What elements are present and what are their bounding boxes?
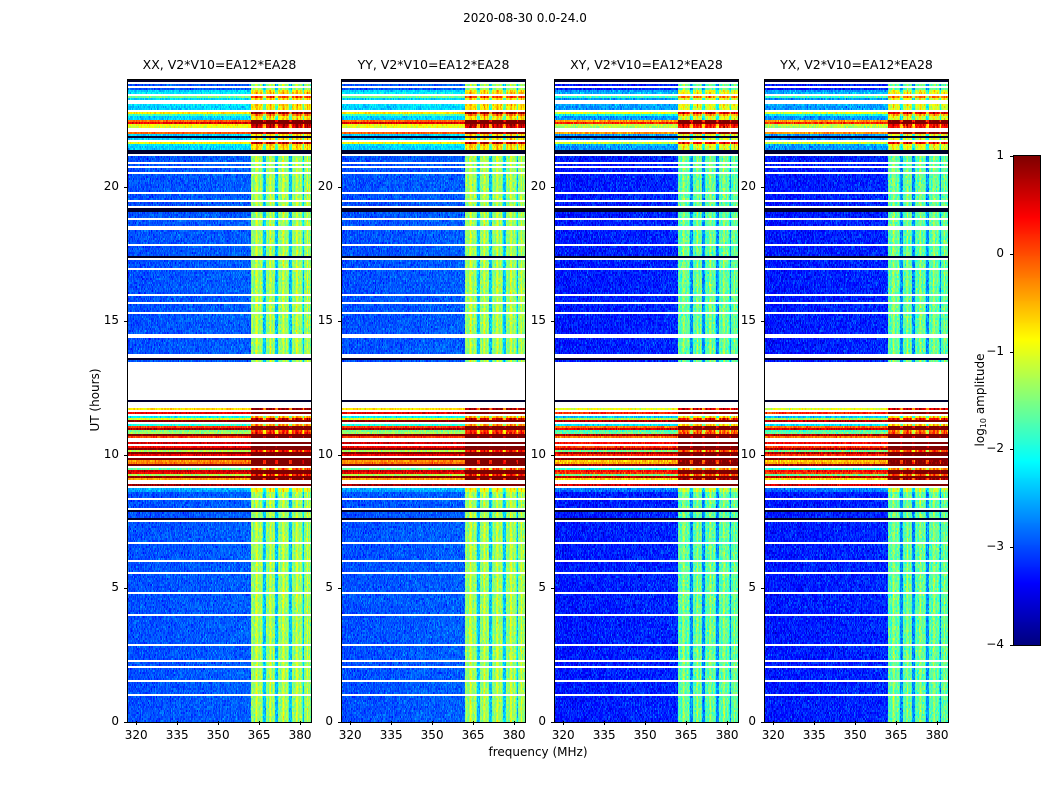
colorbar-tick-label: −3 xyxy=(974,539,1004,553)
x-tick-label: 335 xyxy=(157,728,197,742)
y-tick-mark xyxy=(338,187,342,188)
y-tick-mark xyxy=(551,187,555,188)
spectrum-panel-yx[interactable] xyxy=(764,79,949,723)
colorbar-label-subscript: 10 xyxy=(979,417,988,427)
y-tick-label: 5 xyxy=(726,580,756,594)
spectrum-panel-xx[interactable] xyxy=(127,79,312,723)
y-tick-mark xyxy=(338,588,342,589)
y-tick-label: 10 xyxy=(726,447,756,461)
x-tick-mark xyxy=(177,721,178,725)
colorbar-tick-mark xyxy=(1010,352,1014,353)
y-tick-label: 20 xyxy=(726,179,756,193)
colorbar-tick-label: −4 xyxy=(974,637,1004,651)
y-tick-mark xyxy=(551,588,555,589)
y-tick-mark xyxy=(338,455,342,456)
y-tick-mark xyxy=(124,588,128,589)
x-tick-mark xyxy=(473,721,474,725)
x-tick-mark xyxy=(218,721,219,725)
x-tick-label: 320 xyxy=(330,728,370,742)
x-tick-mark xyxy=(259,721,260,725)
x-tick-label: 320 xyxy=(753,728,793,742)
y-tick-label: 15 xyxy=(303,313,333,327)
y-tick-label: 5 xyxy=(89,580,119,594)
y-tick-label: 0 xyxy=(516,714,546,728)
x-tick-mark xyxy=(300,721,301,725)
x-tick-mark xyxy=(686,721,687,725)
dynamic-spectrum-image xyxy=(765,80,948,722)
x-tick-mark xyxy=(855,721,856,725)
x-tick-mark xyxy=(896,721,897,725)
x-tick-label: 380 xyxy=(707,728,747,742)
x-tick-label: 320 xyxy=(116,728,156,742)
x-tick-label: 350 xyxy=(412,728,452,742)
figure-canvas: 2020-08-30 0.0-24.0 UT (hours) frequency… xyxy=(0,0,1050,800)
y-tick-mark xyxy=(124,722,128,723)
x-tick-label: 335 xyxy=(584,728,624,742)
y-tick-label: 10 xyxy=(516,447,546,461)
x-tick-label: 380 xyxy=(494,728,534,742)
colorbar-tick-label: 1 xyxy=(974,148,1004,162)
x-tick-label: 335 xyxy=(371,728,411,742)
y-tick-label: 20 xyxy=(89,179,119,193)
dynamic-spectrum-image xyxy=(128,80,311,722)
colorbar-tick-label: 0 xyxy=(974,246,1004,260)
colorbar-tick-mark xyxy=(1010,156,1014,157)
y-tick-label: 5 xyxy=(303,580,333,594)
x-tick-label: 350 xyxy=(198,728,238,742)
colorbar-tick-mark xyxy=(1010,645,1014,646)
y-tick-label: 0 xyxy=(303,714,333,728)
x-tick-label: 365 xyxy=(666,728,706,742)
y-tick-mark xyxy=(124,455,128,456)
y-tick-label: 15 xyxy=(726,313,756,327)
y-tick-mark xyxy=(124,187,128,188)
colorbar-tick-mark xyxy=(1010,449,1014,450)
x-tick-mark xyxy=(136,721,137,725)
colorbar-tick-mark xyxy=(1010,547,1014,548)
y-tick-mark xyxy=(551,455,555,456)
y-tick-mark xyxy=(761,455,765,456)
x-tick-mark xyxy=(604,721,605,725)
x-tick-label: 365 xyxy=(239,728,279,742)
panel-title-yx: YX, V2*V10=EA12*EA28 xyxy=(707,57,1007,72)
dynamic-spectrum-image xyxy=(555,80,738,722)
x-axis-label: frequency (MHz) xyxy=(388,745,688,759)
x-tick-mark xyxy=(814,721,815,725)
y-tick-mark xyxy=(761,187,765,188)
x-tick-mark xyxy=(514,721,515,725)
x-tick-mark xyxy=(350,721,351,725)
y-tick-mark xyxy=(761,588,765,589)
colorbar-label-base: log xyxy=(973,428,987,446)
x-tick-label: 365 xyxy=(453,728,493,742)
colorbar-label: log10 amplitude xyxy=(973,290,987,510)
y-tick-mark xyxy=(551,321,555,322)
x-tick-mark xyxy=(645,721,646,725)
x-tick-label: 350 xyxy=(835,728,875,742)
colorbar-gradient xyxy=(1014,156,1040,645)
x-tick-label: 380 xyxy=(917,728,957,742)
y-tick-label: 20 xyxy=(516,179,546,193)
y-tick-mark xyxy=(761,321,765,322)
y-tick-mark xyxy=(551,722,555,723)
x-tick-mark xyxy=(773,721,774,725)
y-tick-label: 5 xyxy=(516,580,546,594)
x-tick-label: 335 xyxy=(794,728,834,742)
y-tick-label: 0 xyxy=(89,714,119,728)
y-tick-mark xyxy=(761,722,765,723)
colorbar-tick-mark xyxy=(1010,254,1014,255)
x-tick-mark xyxy=(391,721,392,725)
y-tick-label: 0 xyxy=(726,714,756,728)
x-tick-mark xyxy=(937,721,938,725)
y-tick-mark xyxy=(338,321,342,322)
x-tick-label: 380 xyxy=(280,728,320,742)
x-tick-label: 350 xyxy=(625,728,665,742)
spectrum-panel-xy[interactable] xyxy=(554,79,739,723)
colorbar-label-rest: amplitude xyxy=(973,353,987,417)
figure-suptitle: 2020-08-30 0.0-24.0 xyxy=(0,11,1050,25)
y-tick-label: 20 xyxy=(303,179,333,193)
spectrum-panel-yy[interactable] xyxy=(341,79,526,723)
dynamic-spectrum-image xyxy=(342,80,525,722)
x-tick-label: 320 xyxy=(543,728,583,742)
y-tick-label: 15 xyxy=(89,313,119,327)
x-tick-mark xyxy=(563,721,564,725)
y-tick-mark xyxy=(124,321,128,322)
colorbar[interactable] xyxy=(1013,155,1041,646)
y-tick-mark xyxy=(338,722,342,723)
x-tick-mark xyxy=(432,721,433,725)
y-tick-label: 10 xyxy=(89,447,119,461)
x-tick-label: 365 xyxy=(876,728,916,742)
y-tick-label: 15 xyxy=(516,313,546,327)
y-tick-label: 10 xyxy=(303,447,333,461)
